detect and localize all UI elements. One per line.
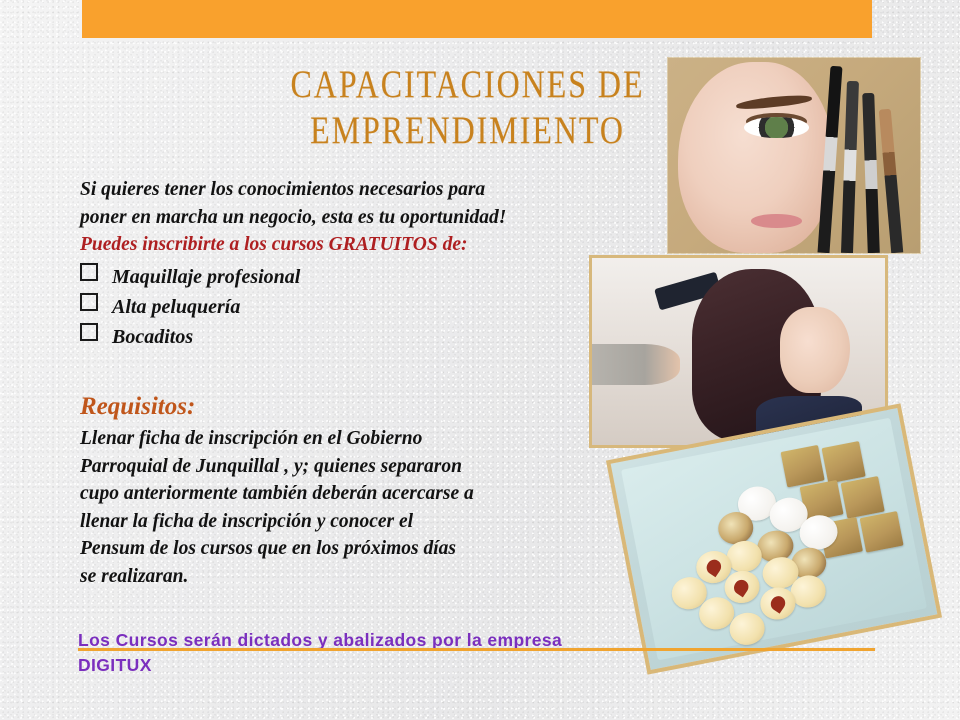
top-accent-bar — [82, 0, 872, 38]
makeup-photo-art — [668, 58, 920, 253]
requisitos-line-1: Llenar ficha de inscripción en el Gobier… — [80, 425, 600, 453]
requisitos-paragraph: Llenar ficha de inscripción en el Gobier… — [80, 425, 600, 590]
course-list: Maquillaje profesional Alta peluquería B… — [80, 262, 510, 352]
brownie-shape — [781, 445, 825, 487]
makeup-brush-icon — [878, 108, 903, 253]
requisitos-heading: Requisitos: — [80, 392, 195, 422]
intro-line-2: poner en marcha un negocio, esta es tu o… — [80, 204, 590, 232]
makeup-brush-icon — [841, 81, 859, 253]
brownie-shape — [822, 441, 866, 483]
intro-line-3-highlight: Puedes inscribirte a los cursos GRATUITO… — [80, 231, 590, 259]
requisitos-line-4: llenar la ficha de inscripción y conocer… — [80, 508, 600, 536]
requisitos-line-2: Parroquial de Junquillal , y; quienes se… — [80, 453, 600, 481]
client-face-shape — [780, 307, 850, 393]
footer-note: Los Cursos serán dictados y abalizados p… — [78, 628, 878, 678]
requisitos-line-5: Pensum de los cursos que en los próximos… — [80, 535, 600, 563]
list-item: Alta peluquería — [80, 292, 510, 322]
requisitos-line-3: cupo anteriormente también deberán acerc… — [80, 480, 600, 508]
footer-divider — [78, 648, 875, 651]
page-title: CAPACITACIONES DE EMPRENDIMIENTO — [191, 62, 745, 154]
makeup-brush-icon — [862, 93, 880, 253]
course-label: Bocaditos — [112, 322, 193, 352]
intro-line-1: Si quieres tener los conocimientos neces… — [80, 176, 590, 204]
intro-paragraph: Si quieres tener los conocimientos neces… — [80, 176, 590, 259]
makeup-photo — [668, 58, 920, 253]
requisitos-line-6: se realizaran. — [80, 563, 600, 591]
footer-line-2: DIGITUX — [78, 653, 878, 678]
checkbox-icon — [80, 293, 98, 311]
stylist-arm-shape — [592, 344, 680, 385]
brownie-shape — [840, 476, 884, 518]
slide-canvas: CAPACITACIONES DE EMPRENDIMIENTO Si quie… — [0, 0, 960, 720]
list-item: Maquillaje profesional — [80, 262, 510, 292]
lips-shape — [751, 214, 801, 228]
eye-shape — [744, 117, 810, 138]
course-label: Alta peluquería — [112, 292, 240, 322]
checkbox-icon — [80, 263, 98, 281]
list-item: Bocaditos — [80, 322, 510, 352]
course-label: Maquillaje profesional — [112, 262, 300, 292]
checkbox-icon — [80, 323, 98, 341]
